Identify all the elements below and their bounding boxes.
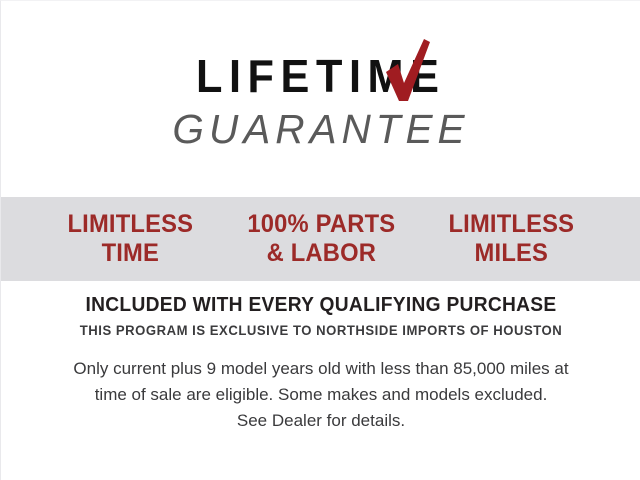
subheadline: THIS PROGRAM IS EXCLUSIVE TO NORTHSIDE I… xyxy=(11,323,632,338)
lifetime-guarantee-advertisement: LIFETIME GUARANTEE LIMITLESS TIME 100% P… xyxy=(0,0,640,480)
feature-line-1: LIMITLESS xyxy=(40,210,221,239)
fineprint-disclaimer: Only current plus 9 model years old with… xyxy=(1,356,640,434)
logo-block: LIFETIME GUARANTEE xyxy=(1,53,640,153)
copy-block: INCLUDED WITH EVERY QUALIFYING PURCHASE … xyxy=(1,294,640,434)
feature-line-1: 100% PARTS xyxy=(230,210,411,239)
feature-column-limitless-miles: LIMITLESS MILES xyxy=(421,210,602,268)
feature-band: LIMITLESS TIME 100% PARTS & LABOR LIMITL… xyxy=(1,197,640,281)
feature-line-2: MILES xyxy=(421,239,602,268)
logo-secondary-text: GUARANTEE xyxy=(4,106,638,153)
feature-line-2: TIME xyxy=(40,239,221,268)
feature-column-parts-labor: 100% PARTS & LABOR xyxy=(230,210,411,268)
logo-lockup: LIFETIME xyxy=(188,53,454,99)
fineprint-line: See Dealer for details. xyxy=(43,408,599,434)
fineprint-line: Only current plus 9 model years old with… xyxy=(43,356,599,382)
feature-line-1: LIMITLESS xyxy=(421,210,602,239)
logo-primary-text: LIFETIME xyxy=(196,53,446,99)
feature-line-2: & LABOR xyxy=(230,239,411,268)
fineprint-line: time of sale are eligible. Some makes an… xyxy=(43,382,599,408)
feature-column-limitless-time: LIMITLESS TIME xyxy=(40,210,221,268)
headline: INCLUDED WITH EVERY QUALIFYING PURCHASE xyxy=(14,294,628,317)
